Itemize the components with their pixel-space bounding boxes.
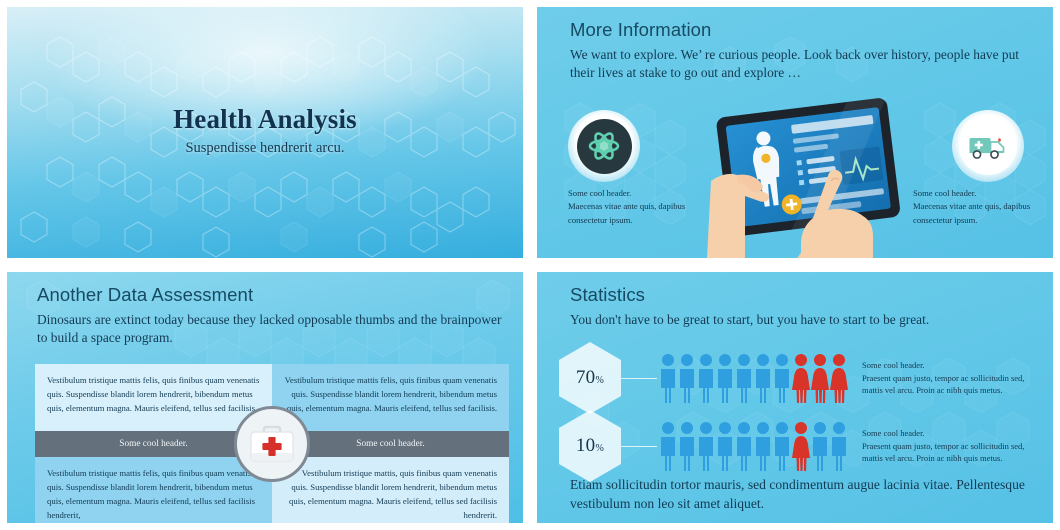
person-male-icon <box>659 421 677 471</box>
right-icon-badge[interactable] <box>952 110 1024 182</box>
slide-another-data-assessment[interactable]: Another Data Assessment Dinosaurs are ex… <box>0 265 530 530</box>
page-subtitle: Suspendisse hendrerit arcu. <box>7 140 523 157</box>
connector-line <box>621 378 657 379</box>
person-female-icon <box>792 421 810 471</box>
tablet-illustration <box>705 85 915 258</box>
stat-caption-header: Some cool header. <box>862 427 1039 440</box>
statistics-footnote: Etiam sollicitudin tortor mauris, sed co… <box>570 476 1035 513</box>
connector-line <box>621 446 657 447</box>
person-male-icon <box>697 353 715 403</box>
slide-header: Statistics You don't have to be great to… <box>570 284 1031 329</box>
left-icon-badge[interactable] <box>568 110 640 182</box>
percent-value-wrap: 10% <box>576 435 604 457</box>
person-male-icon <box>773 421 791 471</box>
panel-bottom-right-text: Vestibulum tristique mattis, quis finibu… <box>284 466 497 522</box>
title-block: Health Analysis Suspendisse hendrerit ar… <box>7 105 523 157</box>
left-caption: Some cool header. Maecenas vitae ante qu… <box>568 187 686 227</box>
stat-caption-header: Some cool header. <box>862 359 1039 372</box>
person-male-icon <box>735 421 753 471</box>
person-female-icon <box>811 353 829 403</box>
stat-caption: Some cool header. Praesent quam justo, t… <box>862 427 1039 465</box>
percent-value: 70 <box>576 367 596 388</box>
panel-top-right-text: Vestibulum tristique mattis felis, quis … <box>284 373 497 415</box>
left-caption-body: Maecenas vitae ante quis, dapibus consec… <box>568 201 685 224</box>
percent-value-wrap: 70% <box>576 367 604 389</box>
slide-more-information[interactable]: More Information We want to explore. We’… <box>530 0 1060 265</box>
left-caption-header: Some cool header. <box>568 187 686 200</box>
page-title: Health Analysis <box>7 105 523 135</box>
percent-unit: % <box>595 443 604 454</box>
slide-header: Another Data Assessment Dinosaurs are ex… <box>37 284 503 346</box>
slide-header: More Information We want to explore. We’… <box>570 19 1031 81</box>
person-male-icon <box>773 353 791 403</box>
page-title: Another Data Assessment <box>37 284 503 306</box>
stat-caption: Some cool header. Praesent quam justo, t… <box>862 359 1039 397</box>
atom-icon-disc <box>577 119 632 174</box>
person-male-icon <box>716 421 734 471</box>
panel-bottom-right: Vestibulum tristique mattis, quis finibu… <box>272 457 509 524</box>
stat-row: 10% <box>559 412 1039 480</box>
page-subhead: We want to explore. We’ re curious peopl… <box>570 46 1031 81</box>
page-subhead: Dinosaurs are extinct today because they… <box>37 311 503 346</box>
slide-deck-grid: Health Analysis Suspendisse hendrerit ar… <box>0 0 1060 530</box>
person-female-icon <box>792 353 810 403</box>
ambulance-icon-disc <box>959 117 1017 175</box>
person-male-icon <box>678 353 696 403</box>
comparison-panels: Vestibulum tristique mattis felis, quis … <box>35 364 509 523</box>
atom-icon <box>587 129 621 163</box>
stat-caption-body: Praesent quam justo, tempor ac sollicitu… <box>862 440 1039 466</box>
panel-bottom-left-text: Vestibulum tristique mattis felis, quis … <box>47 466 260 522</box>
percent-unit: % <box>595 375 604 386</box>
panel-top-left: Vestibulum tristique mattis felis, quis … <box>35 364 272 431</box>
page-title: Statistics <box>570 284 1031 306</box>
person-male-icon <box>735 353 753 403</box>
slide-statistics[interactable]: Statistics You don't have to be great to… <box>530 265 1060 530</box>
person-male-icon <box>754 421 772 471</box>
first-aid-kit-icon <box>247 423 297 465</box>
pictogram-row-2 <box>659 421 848 471</box>
person-male-icon <box>697 421 715 471</box>
bar-right-label: Some cool header. <box>356 439 424 449</box>
person-male-icon <box>716 353 734 403</box>
ambulance-icon <box>968 131 1008 161</box>
slide-title[interactable]: Health Analysis Suspendisse hendrerit ar… <box>0 0 530 265</box>
panel-bottom-left: Vestibulum tristique mattis felis, quis … <box>35 457 272 524</box>
panel-top-left-text: Vestibulum tristique mattis felis, quis … <box>47 373 260 415</box>
person-male-icon <box>811 421 829 471</box>
person-female-icon <box>830 353 848 403</box>
page-subhead: You don't have to be great to start, but… <box>570 311 1031 329</box>
right-caption-header: Some cool header. <box>913 187 1031 200</box>
right-caption-body: Maecenas vitae ante quis, dapibus consec… <box>913 201 1030 224</box>
first-aid-kit-badge[interactable] <box>234 406 310 482</box>
page-title: More Information <box>570 19 1031 41</box>
percent-value: 10 <box>576 435 596 456</box>
right-caption: Some cool header. Maecenas vitae ante qu… <box>913 187 1031 227</box>
person-male-icon <box>830 421 848 471</box>
stat-row: 70% <box>559 344 1039 412</box>
person-male-icon <box>659 353 677 403</box>
bar-left-label: Some cool header. <box>119 439 187 449</box>
person-male-icon <box>754 353 772 403</box>
panel-top-right: Vestibulum tristique mattis felis, quis … <box>272 364 509 431</box>
stat-caption-body: Praesent quam justo, tempor ac sollicitu… <box>862 372 1039 398</box>
statistics-rows: 70% <box>559 344 1039 480</box>
hand-holding-tablet-icon <box>705 85 915 258</box>
percent-badge[interactable]: 70% <box>559 342 621 414</box>
percent-badge[interactable]: 10% <box>559 410 621 482</box>
person-male-icon <box>678 421 696 471</box>
pictogram-row-1 <box>659 353 848 403</box>
